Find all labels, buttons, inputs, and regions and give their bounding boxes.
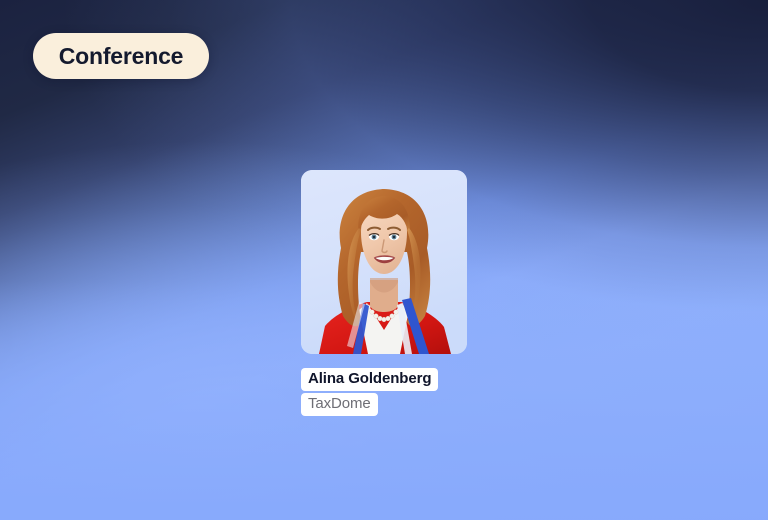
speaker-photo-card[interactable] [301,170,467,354]
speaker-name: Alina Goldenberg [301,368,438,391]
conference-badge[interactable]: Conference [33,33,209,79]
conference-badge-label: Conference [59,45,184,68]
speaker-organization: TaxDome [301,393,378,416]
speaker-slide: Conference [0,0,768,520]
speaker-info: Alina Goldenberg TaxDome [301,368,438,416]
speaker-portrait-image [301,170,467,354]
